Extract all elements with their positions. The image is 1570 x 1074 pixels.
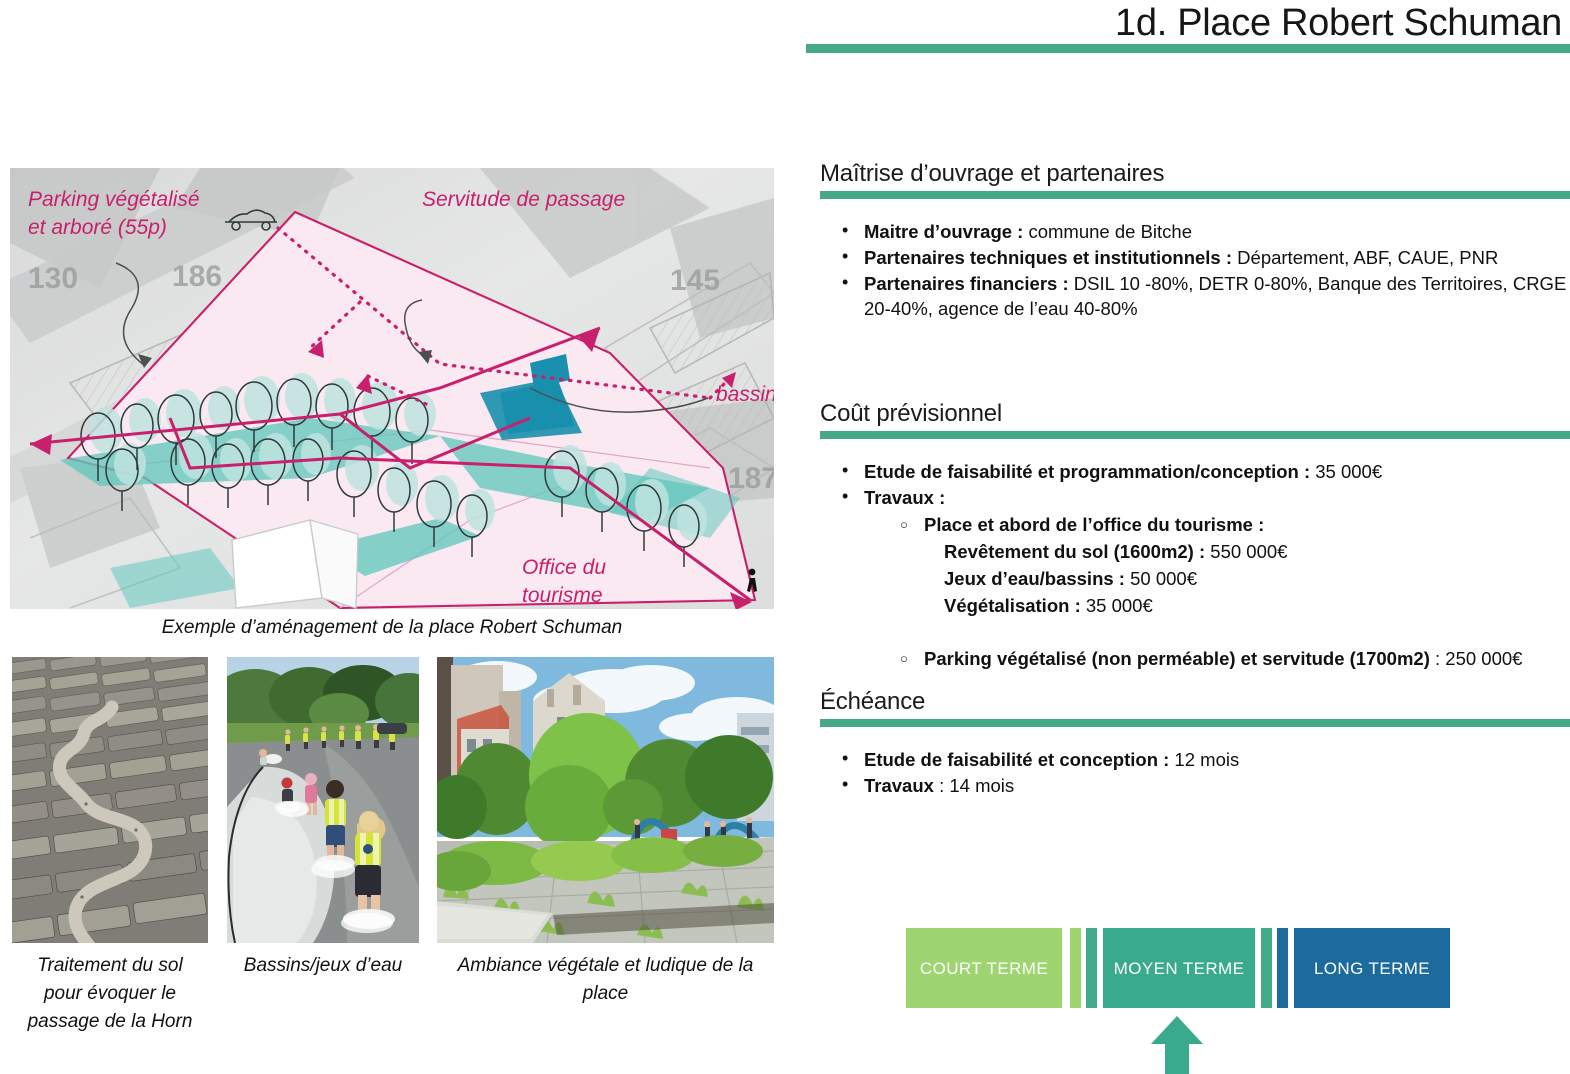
list-item: Etude de faisabilité et programmation/co… [820,459,1570,484]
cout-detail-line-1: Revêtement du sol (1600m2) : 550 000€ [820,538,1570,565]
section-title-echeance: Échéance [820,688,1570,716]
bullet-label: Maitre d’ouvrage : [864,221,1023,242]
masterplan-map: 130 186 145 187 [10,168,774,609]
detail-label: Végétalisation : [944,595,1081,616]
photo-caption-3: Ambiance végétale et ludique de la place [437,952,774,1008]
list-item: Place et abord de l’office du tourisme : [820,511,1570,538]
map-caption: Exemple d’aménagement de la place Robert… [10,617,774,639]
map-label-office-line2: tourisme [522,584,603,607]
timeline-block-court-terme[interactable]: COURT TERME [906,928,1062,1008]
header-accent-rule [806,44,1570,53]
section-maitrise-ouvrage: Maîtrise d’ouvrage et partenaires Maitre… [820,160,1570,322]
timeline-block-moyen-terme[interactable]: MOYEN TERME [1103,928,1255,1008]
timeline-block-long-terme[interactable]: LONG TERME [1294,928,1450,1008]
sub-bullet-label: Place et abord de l’office du tourisme : [924,514,1264,535]
section-rule-cout [820,431,1570,439]
cout-bullet-list: Etude de faisabilité et programmation/co… [820,459,1570,510]
bullet-value: Département, ABF, CAUE, PNR [1232,247,1498,268]
detail-value: 35 000€ [1081,595,1153,616]
timeline-separator-2b [1277,928,1288,1008]
spacer [820,619,1570,645]
photo-caption-2: Bassins/jeux d’eau [227,952,419,980]
bullet-value: : 14 mois [934,775,1014,796]
map-label-parking-line1: Parking végétalisé [28,188,200,211]
list-item: Partenaires financiers : DSIL 10 -80%, D… [820,271,1570,321]
detail-label: Jeux d’eau/bassins : [944,568,1125,589]
bullet-label: Partenaires financiers : [864,273,1069,294]
slide-header: 1d. Place Robert Schuman [806,0,1570,60]
timeline-label: LONG TERME [1314,958,1430,979]
cout-detail-line-2: Jeux d’eau/bassins : 50 000€ [820,565,1570,592]
detail-value: 550 000€ [1205,541,1287,562]
list-item: Parking végétalisé (non perméable) et se… [820,645,1570,672]
cout-sub-list-b: Parking végétalisé (non perméable) et se… [820,645,1570,672]
list-item: Etude de faisabilité et conception : 12 … [820,747,1570,772]
timeline-label: MOYEN TERME [1114,958,1245,979]
bullet-label: Etude de faisabilité et programmation/co… [864,461,1310,482]
slide: 1d. Place Robert Schuman [0,0,1570,1074]
timeline-indicator: COURT TERME MOYEN TERME LONG TERME [906,928,1450,1008]
timeline-separator-1a [1070,928,1081,1008]
photo-cobblestone-ribbon [12,657,208,943]
bullet-label: Partenaires techniques et institutionnel… [864,247,1232,268]
parcel-number-145: 145 [670,264,720,297]
list-item: Travaux : 14 mois [820,773,1570,798]
photo-planted-plaza [437,657,774,943]
list-item: Maitre d’ouvrage : commune de Bitche [820,219,1570,244]
section-rule-maitrise [820,191,1570,199]
map-label-office-line1: Office du [522,556,606,579]
parcel-number-187: 187 [728,462,774,495]
map-label-bassins: bassins [716,383,774,406]
photo-caption-1: Traitement du sol pour évoquer le passag… [12,952,208,1036]
parcel-number-186: 186 [172,260,222,293]
parcel-number-130: 130 [28,262,78,295]
list-item: Partenaires techniques et institutionnel… [820,245,1570,270]
page-title: 1d. Place Robert Schuman [1115,2,1562,45]
list-item: Travaux : [820,485,1570,510]
map-graphic: 130 186 145 187 [10,168,774,609]
timeline-label: COURT TERME [920,958,1048,979]
bullet-value: 12 mois [1169,749,1239,770]
detail-label: Revêtement du sol (1600m2) : [944,541,1205,562]
maitrise-bullet-list: Maitre d’ouvrage : commune de Bitche Par… [820,219,1570,321]
bullet-label: Etude de faisabilité et conception : [864,749,1169,770]
photo-water-play [227,657,419,943]
sub-bullet-label: Parking végétalisé (non perméable) et se… [924,648,1430,669]
map-label-servitude: Servitude de passage [422,188,625,211]
bullet-label: Travaux [864,775,934,796]
map-label-parking-line2: et arboré (55p) [28,216,167,239]
section-title-cout: Coût prévisionnel [820,400,1570,428]
echeance-bullet-list: Etude de faisabilité et conception : 12 … [820,747,1570,798]
bullet-value: commune de Bitche [1023,221,1192,242]
section-rule-echeance [820,719,1570,727]
section-title-maitrise: Maîtrise d’ouvrage et partenaires [820,160,1570,188]
section-cout-previsionnel: Coût prévisionnel Etude de faisabilité e… [820,400,1570,672]
timeline-separator-2a [1261,928,1272,1008]
detail-value: 50 000€ [1125,568,1197,589]
bullet-label: Travaux : [864,487,945,508]
bullet-value: 35 000€ [1310,461,1382,482]
timeline-selection-arrow-icon [1149,1014,1205,1074]
sub-bullet-value: : 250 000€ [1430,648,1523,669]
cout-detail-line-3: Végétalisation : 35 000€ [820,592,1570,619]
cout-sub-list-a: Place et abord de l’office du tourisme : [820,511,1570,538]
section-echeance: Échéance Etude de faisabilité et concept… [820,688,1570,799]
timeline-separator-1b [1086,928,1097,1008]
